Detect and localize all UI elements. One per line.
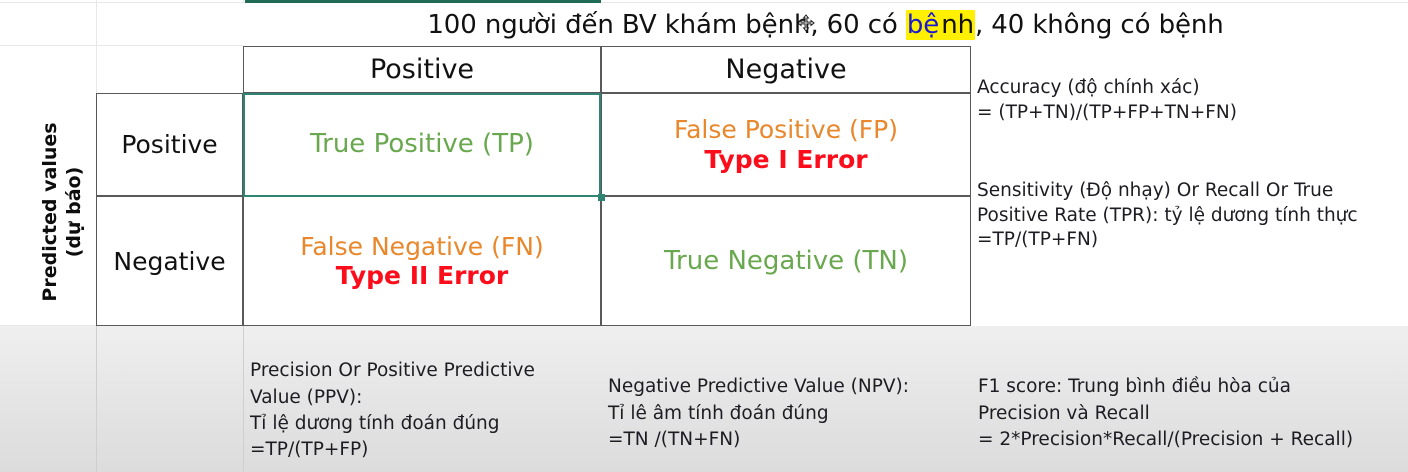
confusion-matrix-table: Positive Negative Positive Negative True…	[96, 46, 971, 326]
bottom-cell-precision: Precision Or Positive Predictive Value (…	[244, 328, 600, 472]
column-header-positive: Positive	[243, 46, 601, 93]
predicted-values-axis: Predicted values (dự báo)	[6, 96, 94, 326]
tp-cell-selection-handle[interactable]	[598, 194, 605, 201]
cell-false-positive[interactable]: False Positive (FP) Type I Error	[601, 93, 971, 196]
predicted-values-label: Predicted values (dự báo)	[43, 97, 83, 327]
title-highlight-tail: nh	[940, 10, 975, 40]
row-header-negative-label: Negative	[113, 247, 225, 276]
row-header-positive-label: Positive	[121, 130, 217, 159]
column-header-positive-label: Positive	[370, 54, 474, 85]
cell-true-positive[interactable]: True Positive (TP)	[243, 93, 601, 196]
column-header-negative-label: Negative	[725, 54, 846, 85]
bottom-cell-f1-text: F1 score: Trung bình điều hòa của Precis…	[978, 376, 1353, 450]
note-accuracy-text: Accuracy (độ chính xác) = (TP+TN)/(TP+FP…	[977, 77, 1237, 122]
row-header-negative: Negative	[96, 196, 243, 326]
row-header-positive: Positive	[96, 93, 243, 196]
cell-true-positive-label: True Positive (TP)	[310, 129, 534, 160]
cell-type-1-error-label: Type I Error	[704, 145, 867, 175]
title-text-before: 100 người đến BV khám bệnh, 60 có	[427, 10, 906, 40]
cell-true-negative-label: True Negative (TN)	[664, 246, 908, 277]
column-header-negative: Negative	[601, 46, 971, 93]
cell-type-2-error-label: Type II Error	[336, 261, 509, 291]
note-sensitivity-text: Sensitivity (Độ nhạy) Or Recall Or True …	[977, 180, 1358, 250]
cell-false-negative[interactable]: False Negative (FN) Type II Error	[243, 196, 601, 326]
cell-false-negative-label: False Negative (FN)	[300, 232, 543, 262]
cell-false-positive-label: False Positive (FP)	[674, 115, 898, 145]
slide-canvas: 100 người đến BV khám bệnh, 60 có bệnh, …	[0, 0, 1408, 472]
bottom-row-divider	[96, 326, 97, 472]
bottom-cell-npv: Negative Predictive Value (NPV): Tỉ lê â…	[602, 344, 970, 472]
bottom-cell-f1: F1 score: Trung bình điều hòa của Precis…	[972, 344, 1408, 472]
page-title: 100 người đến BV khám bệnh, 60 có bệnh, …	[427, 10, 1223, 40]
slide-title: 100 người đến BV khám bệnh, 60 có bệnh, …	[243, 3, 1408, 46]
bottom-cell-npv-text: Negative Predictive Value (NPV): Tỉ lê â…	[608, 376, 909, 450]
title-text-after: , 40 không có bệnh	[975, 10, 1224, 40]
note-sensitivity: Sensitivity (Độ nhạy) Or Recall Or True …	[971, 149, 1408, 326]
bottom-cell-precision-text: Precision Or Positive Predictive Value (…	[250, 360, 535, 460]
cell-true-negative[interactable]: True Negative (TN)	[601, 196, 971, 326]
note-accuracy: Accuracy (độ chính xác) = (TP+TN)/(TP+FP…	[971, 46, 1408, 149]
title-highlight-selected: bệ	[906, 10, 940, 40]
